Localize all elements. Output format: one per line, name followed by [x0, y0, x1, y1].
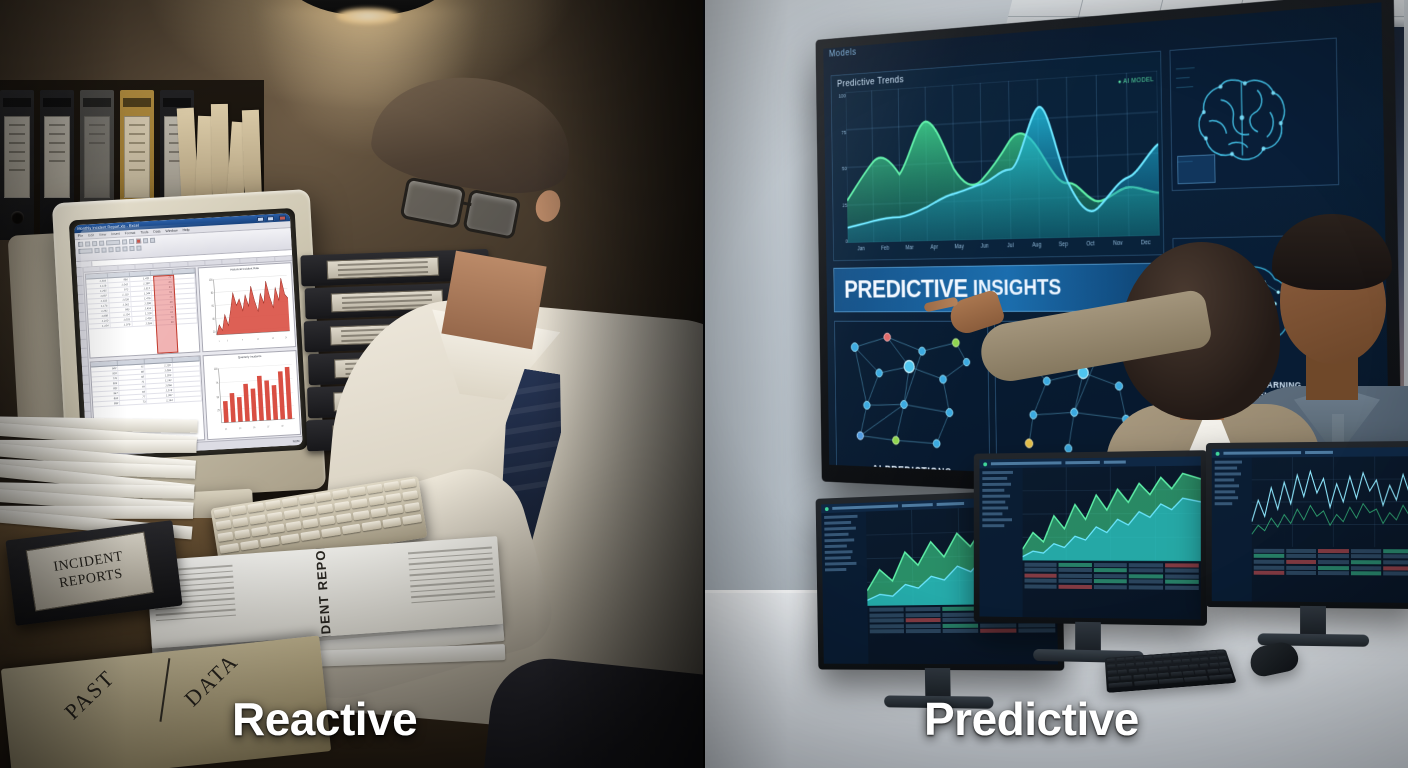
menu-item-format[interactable]: Format	[125, 231, 136, 236]
brain-visualization-card-upper[interactable]	[1170, 38, 1340, 192]
y-tick: 75	[835, 130, 846, 136]
toolbar-align-left-icon[interactable]	[94, 248, 99, 253]
toolbar-percent-icon[interactable]	[122, 246, 127, 251]
y-tick: 50	[835, 167, 846, 173]
toolbar-bold-icon[interactable]	[122, 239, 127, 244]
binder-cap	[3, 98, 31, 107]
table-row	[1024, 568, 1198, 573]
x-tick: Aug	[1024, 242, 1051, 253]
binder-ring-hole	[11, 211, 24, 224]
predictive-trends-chart-svg	[846, 71, 1160, 243]
toolbar-fill-icon[interactable]	[136, 246, 141, 251]
svg-text:5: 5	[227, 340, 229, 342]
svg-text:Q1: Q1	[225, 428, 228, 430]
svg-text:75: 75	[216, 380, 219, 385]
toolbar-align-right-icon[interactable]	[108, 247, 113, 252]
svg-text:1: 1	[219, 341, 221, 343]
svg-text:13: 13	[257, 339, 260, 341]
menu-item-insert[interactable]: Insert	[111, 232, 120, 236]
binder-label	[124, 116, 150, 198]
shelf-binder	[0, 90, 34, 240]
caption-reactive: Reactive	[232, 692, 417, 746]
left-panel-reactive: Monthly Incident Report.xls - Excel File…	[0, 0, 704, 768]
split-comparison-image: Monthly Incident Report.xls - Excel File…	[0, 0, 1408, 768]
x-tick: Apr	[922, 244, 947, 255]
toolbar-chart-icon[interactable]	[136, 239, 141, 244]
toolbar-align-center-icon[interactable]	[101, 247, 106, 252]
table-row	[1254, 565, 1408, 570]
window-maximize-button[interactable]	[267, 216, 274, 221]
dashboard-sidebar[interactable]	[979, 468, 1022, 617]
menu-item-file[interactable]: File	[78, 234, 84, 238]
binder-cap	[43, 98, 71, 107]
table-row	[1024, 562, 1198, 567]
status-num-label: NUM	[293, 439, 300, 443]
toolbar-sum-icon[interactable]	[143, 238, 148, 243]
menu-item-window[interactable]: Window	[165, 228, 177, 233]
area-chart-svg	[1022, 466, 1200, 561]
dashboard-sidebar[interactable]	[821, 512, 868, 664]
binder-cap	[123, 98, 151, 107]
window-close-button[interactable]	[279, 215, 286, 220]
predictive-trends-card[interactable]: Predictive Trends ● AI MODEL 100 75 50 2…	[831, 51, 1165, 261]
dashboard-main	[1252, 456, 1408, 603]
table-row	[1024, 579, 1198, 584]
bar-chart-svg: 100 75 50 25 Q1Q3 Q5	[210, 357, 297, 433]
monitor-data-table	[1022, 560, 1200, 619]
menu-item-data[interactable]: Data	[153, 229, 160, 233]
ai-predictions-card[interactable]: AI PREDICTIONS	[834, 321, 990, 489]
toolbar-currency-icon[interactable]	[115, 247, 120, 252]
toolbar-open-icon[interactable]	[85, 241, 90, 246]
toolbar-sort-icon[interactable]	[150, 238, 155, 243]
folder-handwriting-slash	[159, 658, 170, 722]
embedded-charts: Historical Incident Rate	[196, 261, 302, 441]
dashboard-content	[979, 466, 1200, 620]
toolbar-style-selector[interactable]	[78, 248, 92, 254]
x-tick: Jul	[997, 242, 1023, 253]
svg-text:Q9: Q9	[281, 425, 284, 427]
selected-column-highlight[interactable]	[154, 275, 179, 354]
table-row	[1024, 584, 1198, 590]
menu-item-edit[interactable]: Edit	[88, 233, 94, 237]
menu-item-tools[interactable]: Tools	[140, 230, 148, 234]
table-row	[1024, 573, 1198, 578]
binder-cap	[83, 98, 111, 107]
right-panel-predictive: Models Predictive Trends ● AI MODEL 100 …	[704, 0, 1408, 768]
monitor-screen	[979, 456, 1200, 619]
svg-text:18: 18	[272, 338, 275, 340]
dashboard-main	[1022, 466, 1200, 620]
status-dot-icon	[1216, 451, 1220, 455]
status-dot-icon	[825, 507, 829, 511]
table-row	[870, 629, 1056, 634]
monitor-screen	[1212, 447, 1408, 603]
svg-text:25: 25	[217, 408, 220, 413]
historical-incident-rate-chart[interactable]: Historical Incident Rate	[197, 262, 296, 352]
svg-text:Q7: Q7	[267, 426, 270, 428]
svg-text:100: 100	[209, 277, 213, 282]
toolbar-new-icon[interactable]	[78, 242, 83, 247]
trends-card-title: Predictive Trends	[837, 74, 904, 89]
svg-text:50: 50	[216, 395, 219, 400]
toolbar-font-selector[interactable]	[106, 240, 120, 246]
table-row	[1254, 571, 1408, 576]
svg-text:100: 100	[214, 366, 218, 371]
x-tick: Mar	[897, 245, 922, 256]
toolbar-save-icon[interactable]	[92, 241, 97, 246]
monitor-line-chart	[1252, 456, 1408, 547]
binder-label	[4, 116, 30, 198]
desk-monitor-center[interactable]	[974, 450, 1207, 626]
svg-text:24: 24	[285, 337, 288, 339]
svg-text:9: 9	[242, 339, 244, 341]
svg-text:40: 40	[212, 316, 215, 321]
svg-text:80: 80	[211, 290, 214, 295]
tab-models[interactable]: Models	[829, 47, 857, 59]
svg-text:Q3: Q3	[239, 428, 242, 430]
y-tick: 0	[836, 239, 847, 244]
svg-text:Q5: Q5	[253, 427, 256, 429]
spreadsheet-title: Monthly Incident Report.xls - Excel	[77, 223, 139, 231]
desk-monitor-right[interactable]	[1206, 441, 1408, 609]
paper-text-lines	[408, 543, 496, 608]
dashboard-sidebar[interactable]	[1212, 457, 1252, 601]
x-tick: Jun	[972, 243, 998, 254]
paper-stack-heading: INCIDENT REPORTS	[283, 536, 362, 648]
y-tick: 25	[836, 203, 847, 209]
folder-handwriting-past: PAST	[59, 665, 120, 725]
toolbar-italic-icon[interactable]	[129, 239, 134, 244]
toolbar-print-icon[interactable]	[99, 241, 104, 246]
caption-predictive: Predictive	[924, 692, 1139, 746]
glasses-lens-right	[462, 189, 521, 240]
quarterly-incidents-chart[interactable]: Quarterly Incidents	[202, 350, 301, 440]
table-row	[1254, 554, 1408, 559]
binder-label	[44, 116, 70, 198]
data-table-upper[interactable]: 1,2049861,43172 1,1181,0421,38065 1,2659…	[85, 268, 200, 359]
line-chart-svg	[1252, 456, 1408, 547]
x-tick: Sep	[1050, 241, 1077, 253]
svg-text:60: 60	[211, 303, 214, 308]
binder-label	[84, 116, 110, 198]
monitor-area-chart	[1022, 466, 1200, 561]
panel-divider	[703, 0, 705, 768]
status-dot-icon	[983, 462, 987, 466]
dashboard-content	[1212, 456, 1408, 603]
x-tick: May	[947, 244, 972, 255]
table-row	[1254, 549, 1408, 553]
lamp-bulb	[336, 8, 400, 24]
table-row	[870, 623, 1056, 628]
dashboard-ui	[979, 456, 1200, 619]
dashboard-ui	[1212, 447, 1408, 603]
x-tick: Jan	[849, 246, 873, 257]
x-tick: Feb	[873, 245, 897, 256]
monitor-data-table	[1252, 547, 1408, 603]
toolbar-border-icon[interactable]	[129, 246, 134, 251]
y-tick: 100	[834, 94, 845, 100]
menu-item-view[interactable]: View	[99, 232, 107, 236]
table-row	[1254, 560, 1408, 565]
menu-item-help[interactable]: Help	[182, 228, 189, 232]
mini-panel	[1177, 154, 1215, 184]
window-minimize-button[interactable]	[257, 216, 264, 221]
svg-text:20: 20	[213, 329, 216, 334]
name-box[interactable]	[76, 261, 92, 267]
area-chart-svg: 100 80 60 40 20 15	[205, 269, 292, 345]
incident-reports-label: INCIDENT REPORTS	[26, 531, 154, 611]
